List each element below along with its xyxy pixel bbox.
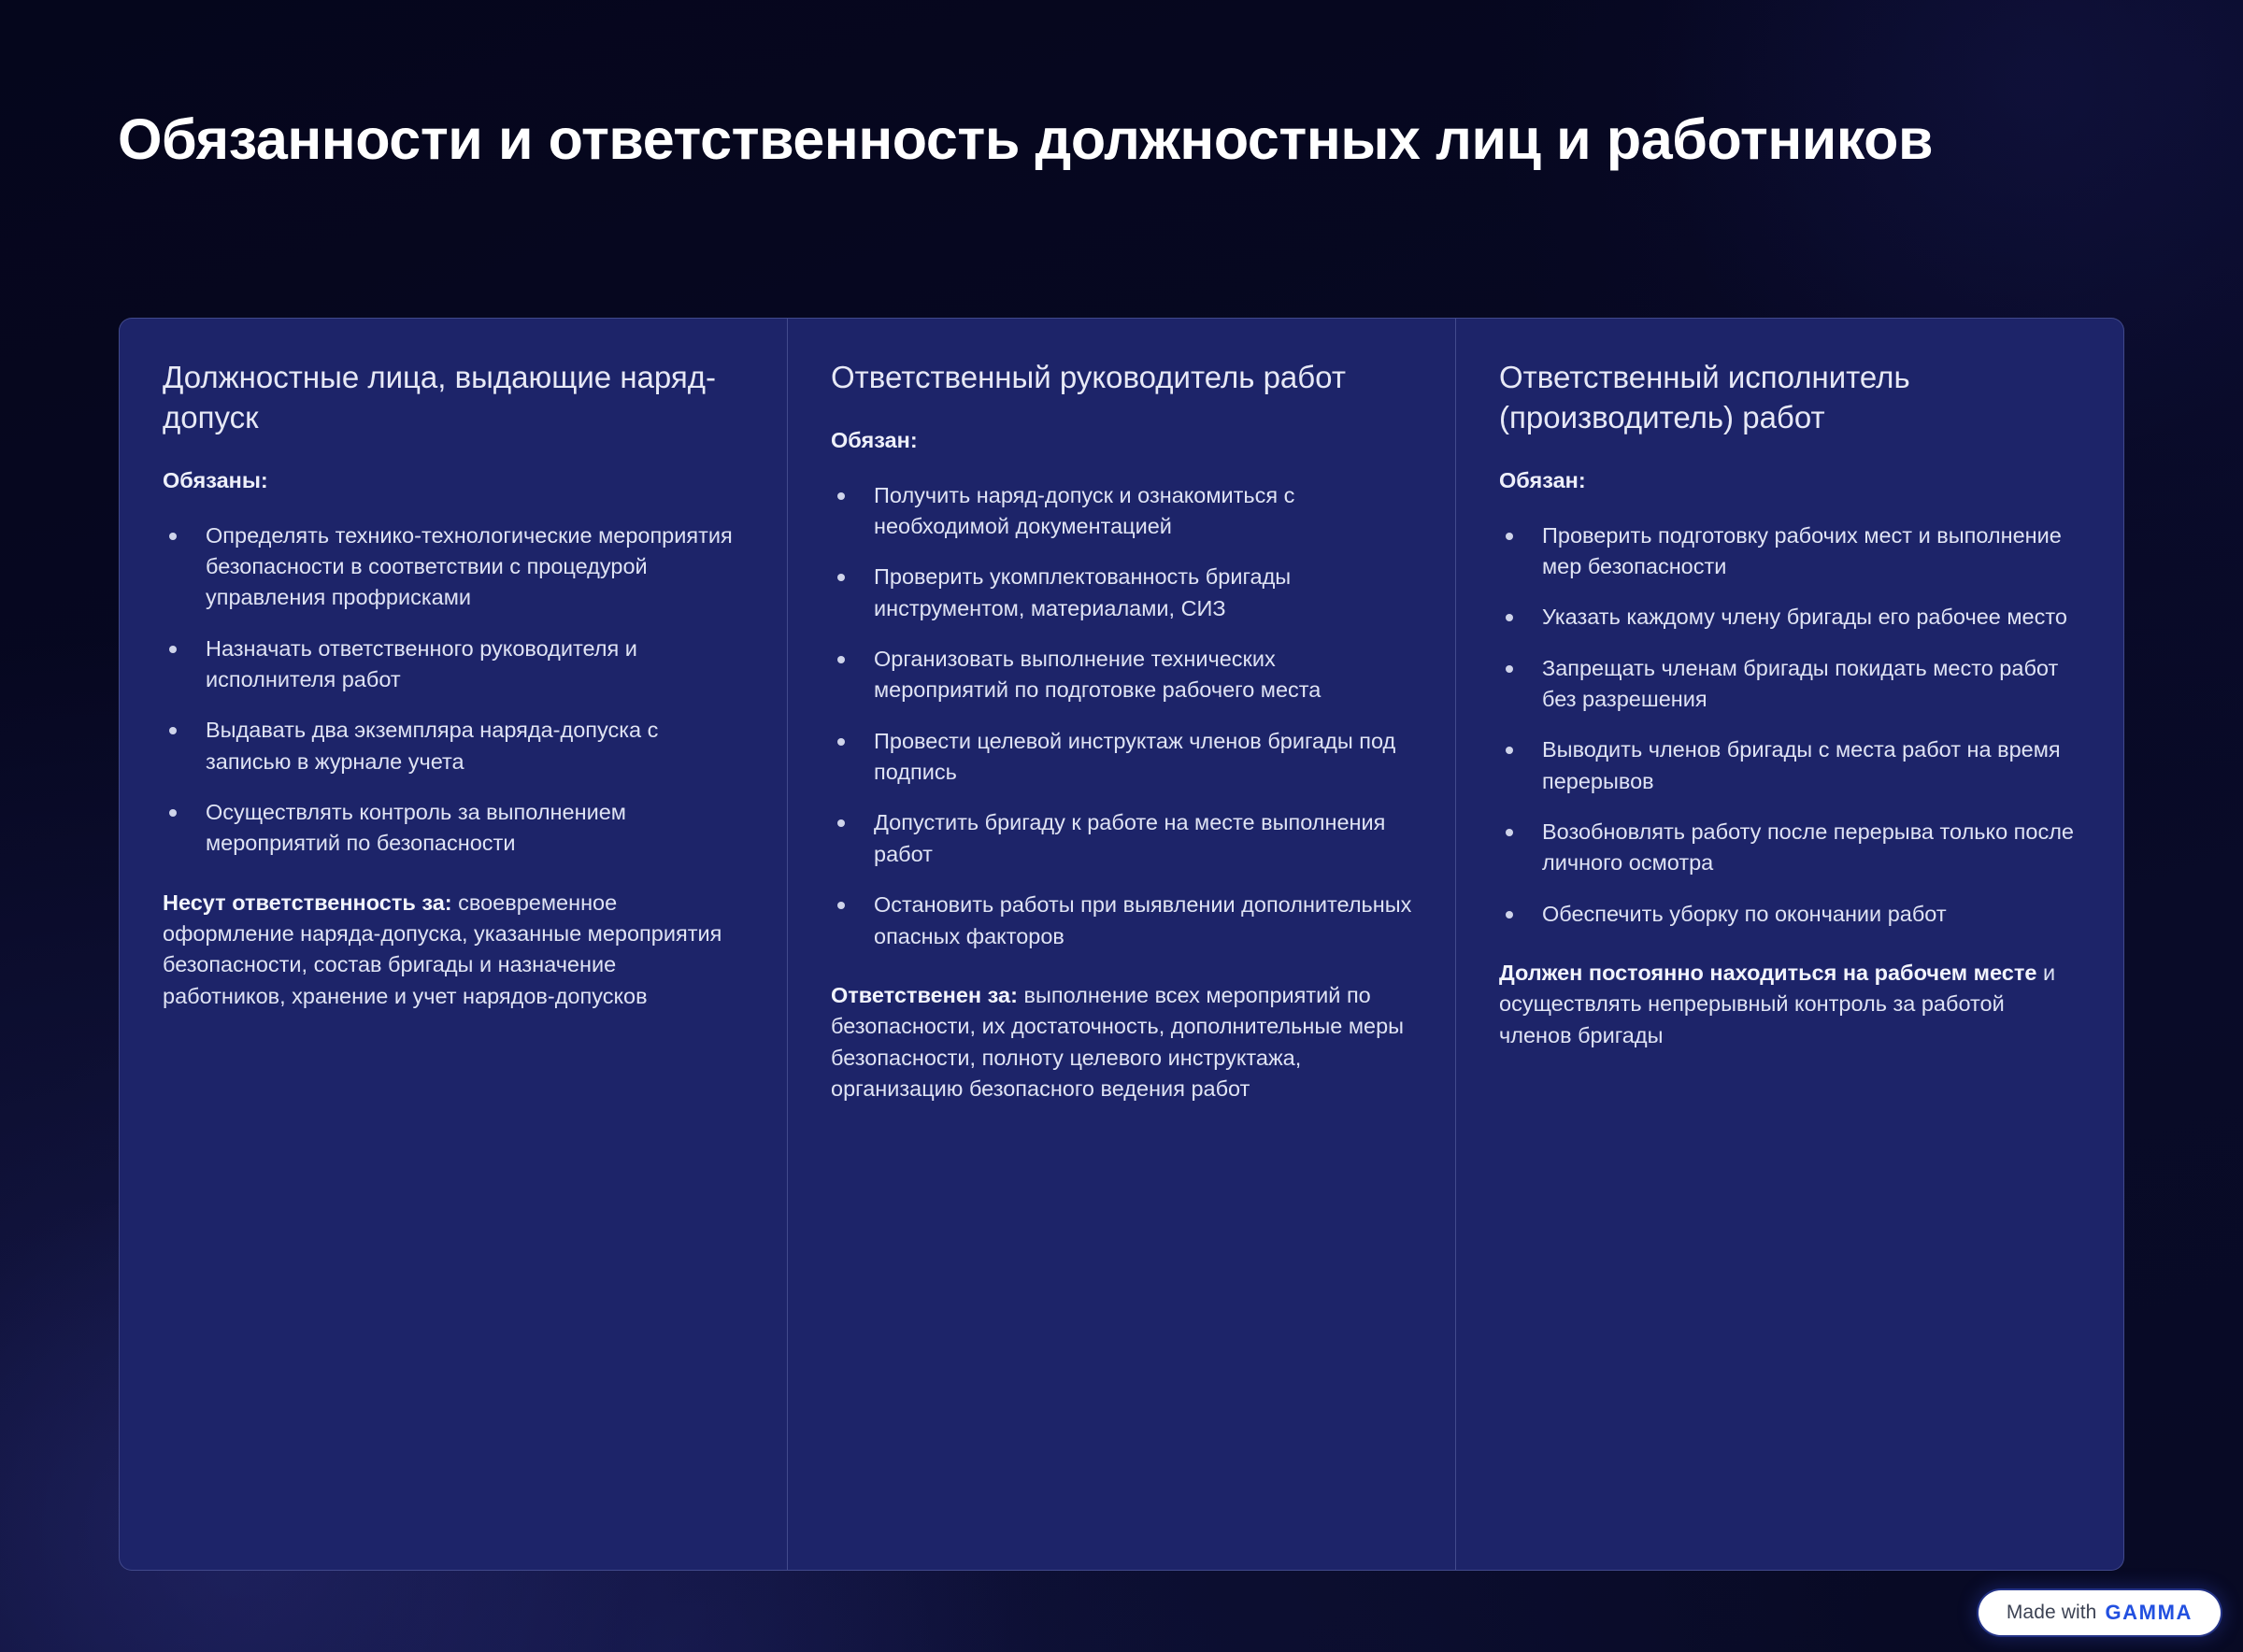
duties-list: Проверить подготовку рабочих мест и выпо… [1499, 520, 2080, 931]
list-item: Выводить членов бригады с места работ на… [1499, 734, 2080, 797]
gamma-wordmark: GAMMA [2105, 1601, 2193, 1625]
card-subhead: Обязаны: [163, 466, 744, 496]
card-title: Ответственный исполнитель (производитель… [1499, 358, 2080, 438]
responsibility-note: Должен постоянно находиться на рабочем м… [1499, 958, 2080, 1051]
card-responsible-work-manager: Ответственный руководитель работ Обязан:… [787, 319, 1455, 1570]
card-officials-issuing-permit: Должностные лица, выдающие наряд-допуск … [120, 319, 787, 1570]
list-item: Назначать ответственного руководителя и … [163, 634, 744, 696]
list-item: Организовать выполнение технических меро… [831, 644, 1412, 706]
list-item: Определять технико-технологические мероп… [163, 520, 744, 614]
list-item: Указать каждому члену бригады его рабоче… [1499, 602, 2080, 633]
responsibility-note-label: Должен постоянно находиться на рабочем м… [1499, 961, 2036, 985]
card-title: Ответственный руководитель работ [831, 358, 1412, 398]
slide-canvas: Обязанности и ответственность должностны… [0, 0, 2243, 1652]
page-title: Обязанности и ответственность должностны… [118, 106, 2080, 174]
duties-list: Получить наряд-допуск и ознакомиться с н… [831, 480, 1412, 952]
list-item: Возобновлять работу после перерыва тольк… [1499, 817, 2080, 879]
list-item: Проверить укомплектованность бригады инс… [831, 562, 1412, 624]
responsibility-note-label: Ответственен за: [831, 983, 1018, 1007]
responsibility-note: Ответственен за: выполнение всех меропри… [831, 980, 1412, 1104]
list-item: Получить наряд-допуск и ознакомиться с н… [831, 480, 1412, 543]
card-subhead: Обязан: [1499, 466, 2080, 496]
card-responsible-work-performer: Ответственный исполнитель (производитель… [1455, 319, 2123, 1570]
responsibility-note: Несут ответственность за: своевременное … [163, 888, 744, 1012]
responsibility-cards-group: Должностные лица, выдающие наряд-допуск … [119, 318, 2124, 1571]
list-item: Проверить подготовку рабочих мест и выпо… [1499, 520, 2080, 583]
list-item: Провести целевой инструктаж членов брига… [831, 726, 1412, 789]
made-with-label: Made with [2007, 1602, 2097, 1624]
list-item: Обеспечить уборку по окончании работ [1499, 899, 2080, 930]
card-subhead: Обязан: [831, 426, 1412, 456]
list-item: Запрещать членам бригады покидать место … [1499, 653, 2080, 716]
list-item: Остановить работы при выявлении дополнит… [831, 890, 1412, 952]
list-item: Осуществлять контроль за выполнением мер… [163, 797, 744, 860]
card-title: Должностные лица, выдающие наряд-допуск [163, 358, 744, 438]
made-with-gamma-badge[interactable]: Made with GAMMA [1979, 1590, 2221, 1635]
list-item: Выдавать два экземпляра наряда-допуска с… [163, 715, 744, 777]
responsibility-note-label: Несут ответственность за: [163, 890, 452, 915]
duties-list: Определять технико-технологические мероп… [163, 520, 744, 860]
list-item: Допустить бригаду к работе на месте выпо… [831, 807, 1412, 870]
